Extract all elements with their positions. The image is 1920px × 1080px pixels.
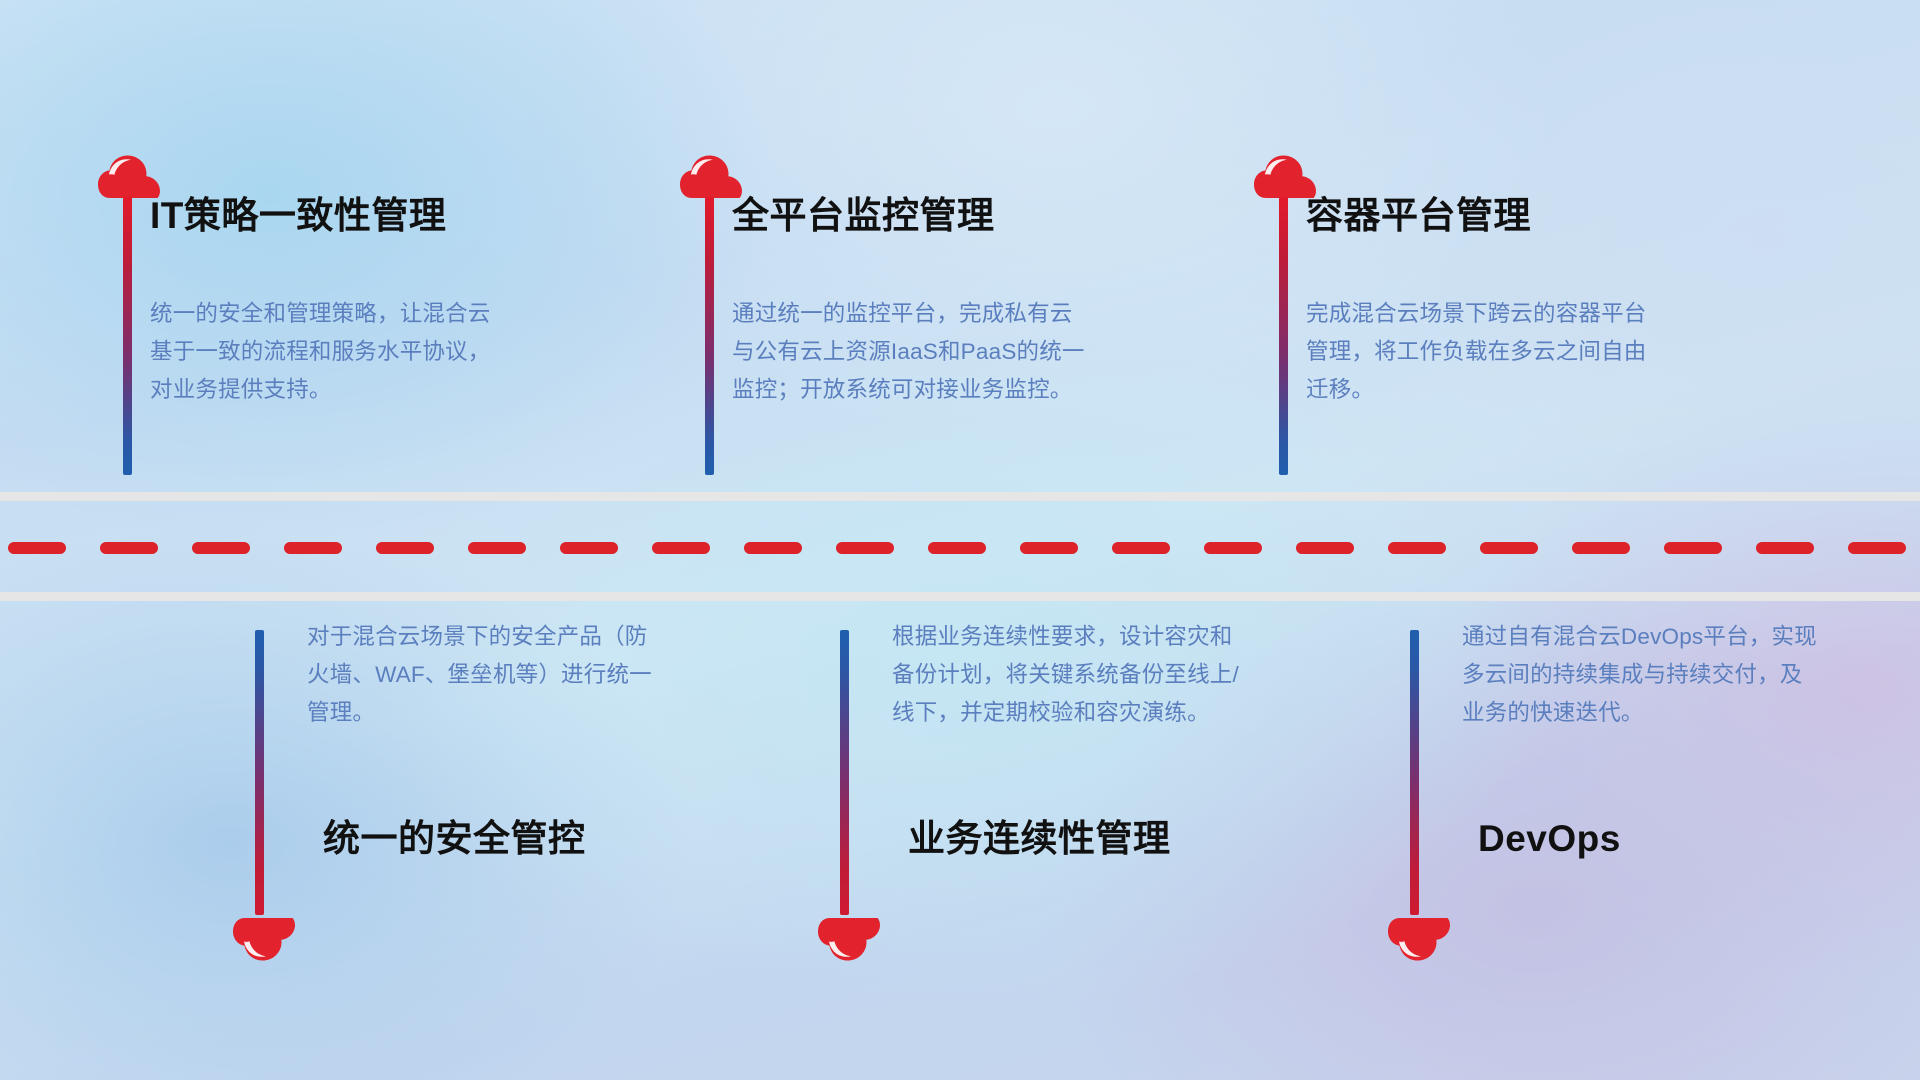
- connector-line: [1279, 197, 1288, 475]
- bottom-item-desc: 对于混合云场景下的安全产品（防火墙、WAF、堡垒机等）进行统一管理。: [307, 618, 667, 732]
- divider-dash: [376, 542, 434, 554]
- divider-dash: [1572, 542, 1630, 554]
- infographic-canvas: IT策略一致性管理 统一的安全和管理策略，让混合云基于一致的流程和服务水平协议，…: [0, 0, 1920, 1080]
- divider-dash: [1020, 542, 1078, 554]
- divider-dash: [652, 542, 710, 554]
- connector-line: [1410, 630, 1419, 915]
- top-item-title: 全平台监控管理: [732, 197, 995, 234]
- divider-dash: [1664, 542, 1722, 554]
- cloud-icon: [818, 917, 880, 961]
- cloud-icon: [680, 155, 742, 199]
- bottom-item-desc: 通过自有混合云DevOps平台，实现多云间的持续集成与持续交付，及业务的快速迭代…: [1462, 618, 1822, 732]
- divider-dash: [1480, 542, 1538, 554]
- cloud-icon: [1388, 917, 1450, 961]
- bottom-item-title: DevOps: [1478, 820, 1621, 857]
- cloud-icon: [233, 917, 295, 961]
- divider-dash: [1388, 542, 1446, 554]
- bottom-item-title: 统一的安全管控: [323, 820, 586, 857]
- connector-line: [255, 630, 264, 915]
- divider-dash: [1112, 542, 1170, 554]
- divider-rule-bottom: [0, 592, 1920, 601]
- divider-dash: [8, 542, 66, 554]
- top-item-3: 容器平台管理 完成混合云场景下跨云的容器平台管理，将工作负载在多云之间自由迁移。: [1254, 155, 1316, 199]
- connector-line: [705, 197, 714, 475]
- top-item-desc: 通过统一的监控平台，完成私有云与公有云上资源IaaS和PaaS的统一监控；开放系…: [732, 295, 1087, 409]
- top-item-title: IT策略一致性管理: [150, 197, 446, 234]
- cloud-icon: [1254, 155, 1316, 199]
- connector-line: [840, 630, 849, 915]
- divider-dash: [560, 542, 618, 554]
- divider-dash: [192, 542, 250, 554]
- top-item-2: 全平台监控管理 通过统一的监控平台，完成私有云与公有云上资源IaaS和PaaS的…: [680, 155, 742, 199]
- cloud-icon: [98, 155, 160, 199]
- divider-dash: [744, 542, 802, 554]
- divider-dash: [1848, 542, 1906, 554]
- divider-dash: [836, 542, 894, 554]
- bottom-item-title: 业务连续性管理: [908, 820, 1171, 857]
- connector-line: [123, 197, 132, 475]
- top-item-desc: 完成混合云场景下跨云的容器平台管理，将工作负载在多云之间自由迁移。: [1306, 295, 1661, 409]
- divider-rule-top: [0, 492, 1920, 501]
- divider-dash: [928, 542, 986, 554]
- divider-dash: [100, 542, 158, 554]
- divider-dash: [1756, 542, 1814, 554]
- dashed-divider: [0, 542, 1920, 554]
- top-item-title: 容器平台管理: [1306, 197, 1531, 234]
- divider-dash: [284, 542, 342, 554]
- divider-dash: [468, 542, 526, 554]
- bottom-item-desc: 根据业务连续性要求，设计容灾和备份计划，将关键系统备份至线上/线下，并定期校验和…: [892, 618, 1252, 732]
- top-item-1: IT策略一致性管理 统一的安全和管理策略，让混合云基于一致的流程和服务水平协议，…: [98, 155, 160, 199]
- divider-dash: [1204, 542, 1262, 554]
- divider-dash: [1296, 542, 1354, 554]
- top-item-desc: 统一的安全和管理策略，让混合云基于一致的流程和服务水平协议，对业务提供支持。: [150, 295, 502, 409]
